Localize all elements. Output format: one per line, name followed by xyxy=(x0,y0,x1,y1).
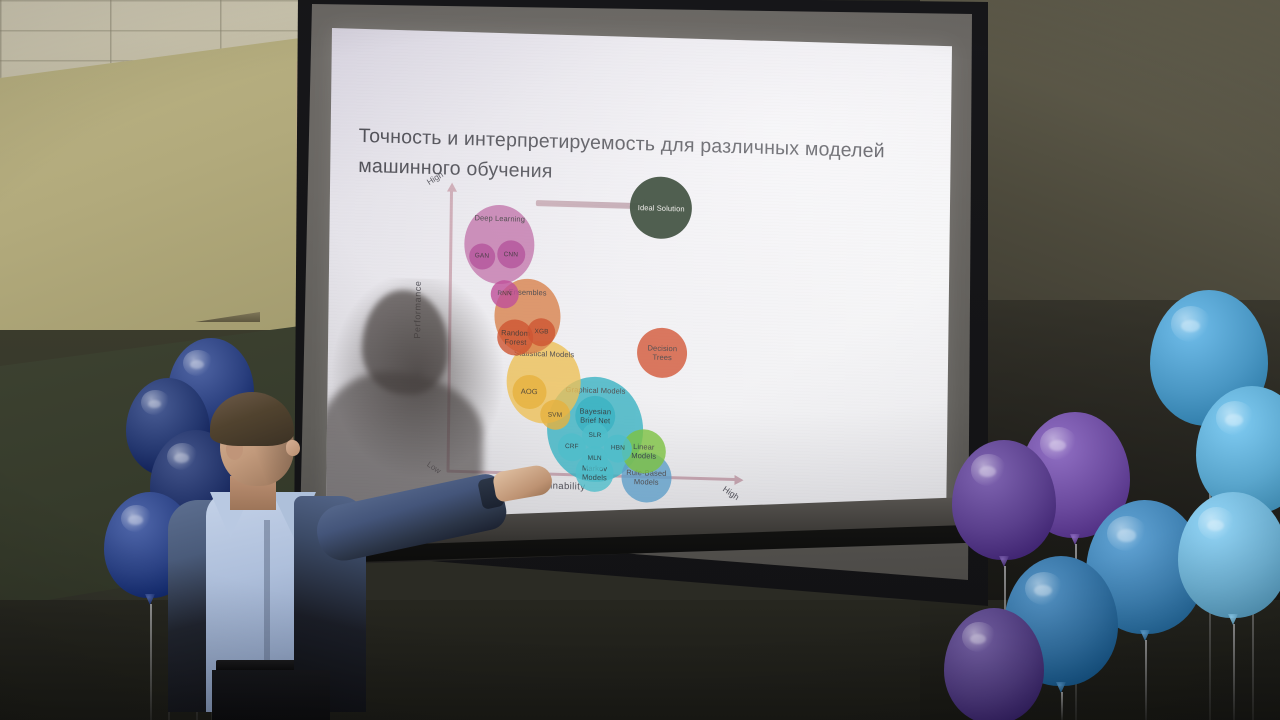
balloon-specular xyxy=(1049,440,1067,451)
bubble-label: HBN xyxy=(609,444,627,452)
presenter-nose xyxy=(286,440,300,456)
lecture-hall-photo: Точность и интерпретируемость для различ… xyxy=(0,0,1280,720)
balloon-specular xyxy=(1117,529,1136,541)
balloon-specular xyxy=(970,634,986,644)
bubble-decision-trees: Decision Trees xyxy=(637,327,688,378)
bubble-ideal-solution: Ideal Solution xyxy=(630,176,693,240)
bubble-hbn: HBN xyxy=(604,434,632,463)
bubble-label: GAN xyxy=(473,253,491,261)
balloon-specular xyxy=(128,515,143,525)
bubble-rnn: RNN xyxy=(490,280,518,309)
balloon-purple-2 xyxy=(952,440,1056,560)
bubble-mln: MLN xyxy=(582,445,608,472)
balloon-specular xyxy=(1225,414,1243,426)
balloon-string xyxy=(1233,624,1235,720)
bubble-label: MLN xyxy=(586,455,604,463)
bubble-label: SLR xyxy=(586,432,603,440)
y-axis-label: Performance xyxy=(412,280,423,338)
bubble-label: RNN xyxy=(495,290,513,298)
balloon-specular xyxy=(190,360,204,369)
balloon-lightblue-4 xyxy=(1178,492,1280,618)
bubble-label: Deep Learning xyxy=(472,213,527,224)
bubble-label: Ideal Solution xyxy=(636,203,687,214)
bubble-label: CNN xyxy=(502,251,520,259)
presenter-trousers xyxy=(212,670,330,720)
presenter-hair xyxy=(210,392,294,446)
presenter xyxy=(168,392,528,720)
balloon-specular xyxy=(979,466,996,477)
balloon-string xyxy=(1061,692,1063,720)
x-axis-tick-high: High xyxy=(721,484,741,502)
bubble-label: XGB xyxy=(532,328,550,336)
bubble-label: SVM xyxy=(546,411,564,419)
balloon-specular xyxy=(1034,585,1052,597)
y-axis-tick-high: High xyxy=(425,169,445,187)
bubble-gan: GAN xyxy=(469,243,495,270)
bubble-label: CRF xyxy=(563,443,581,451)
balloon-string xyxy=(1145,640,1147,720)
balloon-specular xyxy=(1207,520,1225,531)
balloon-specular xyxy=(1181,320,1200,332)
bubble-label: Decision Trees xyxy=(637,343,687,362)
balloon-string xyxy=(150,604,152,720)
